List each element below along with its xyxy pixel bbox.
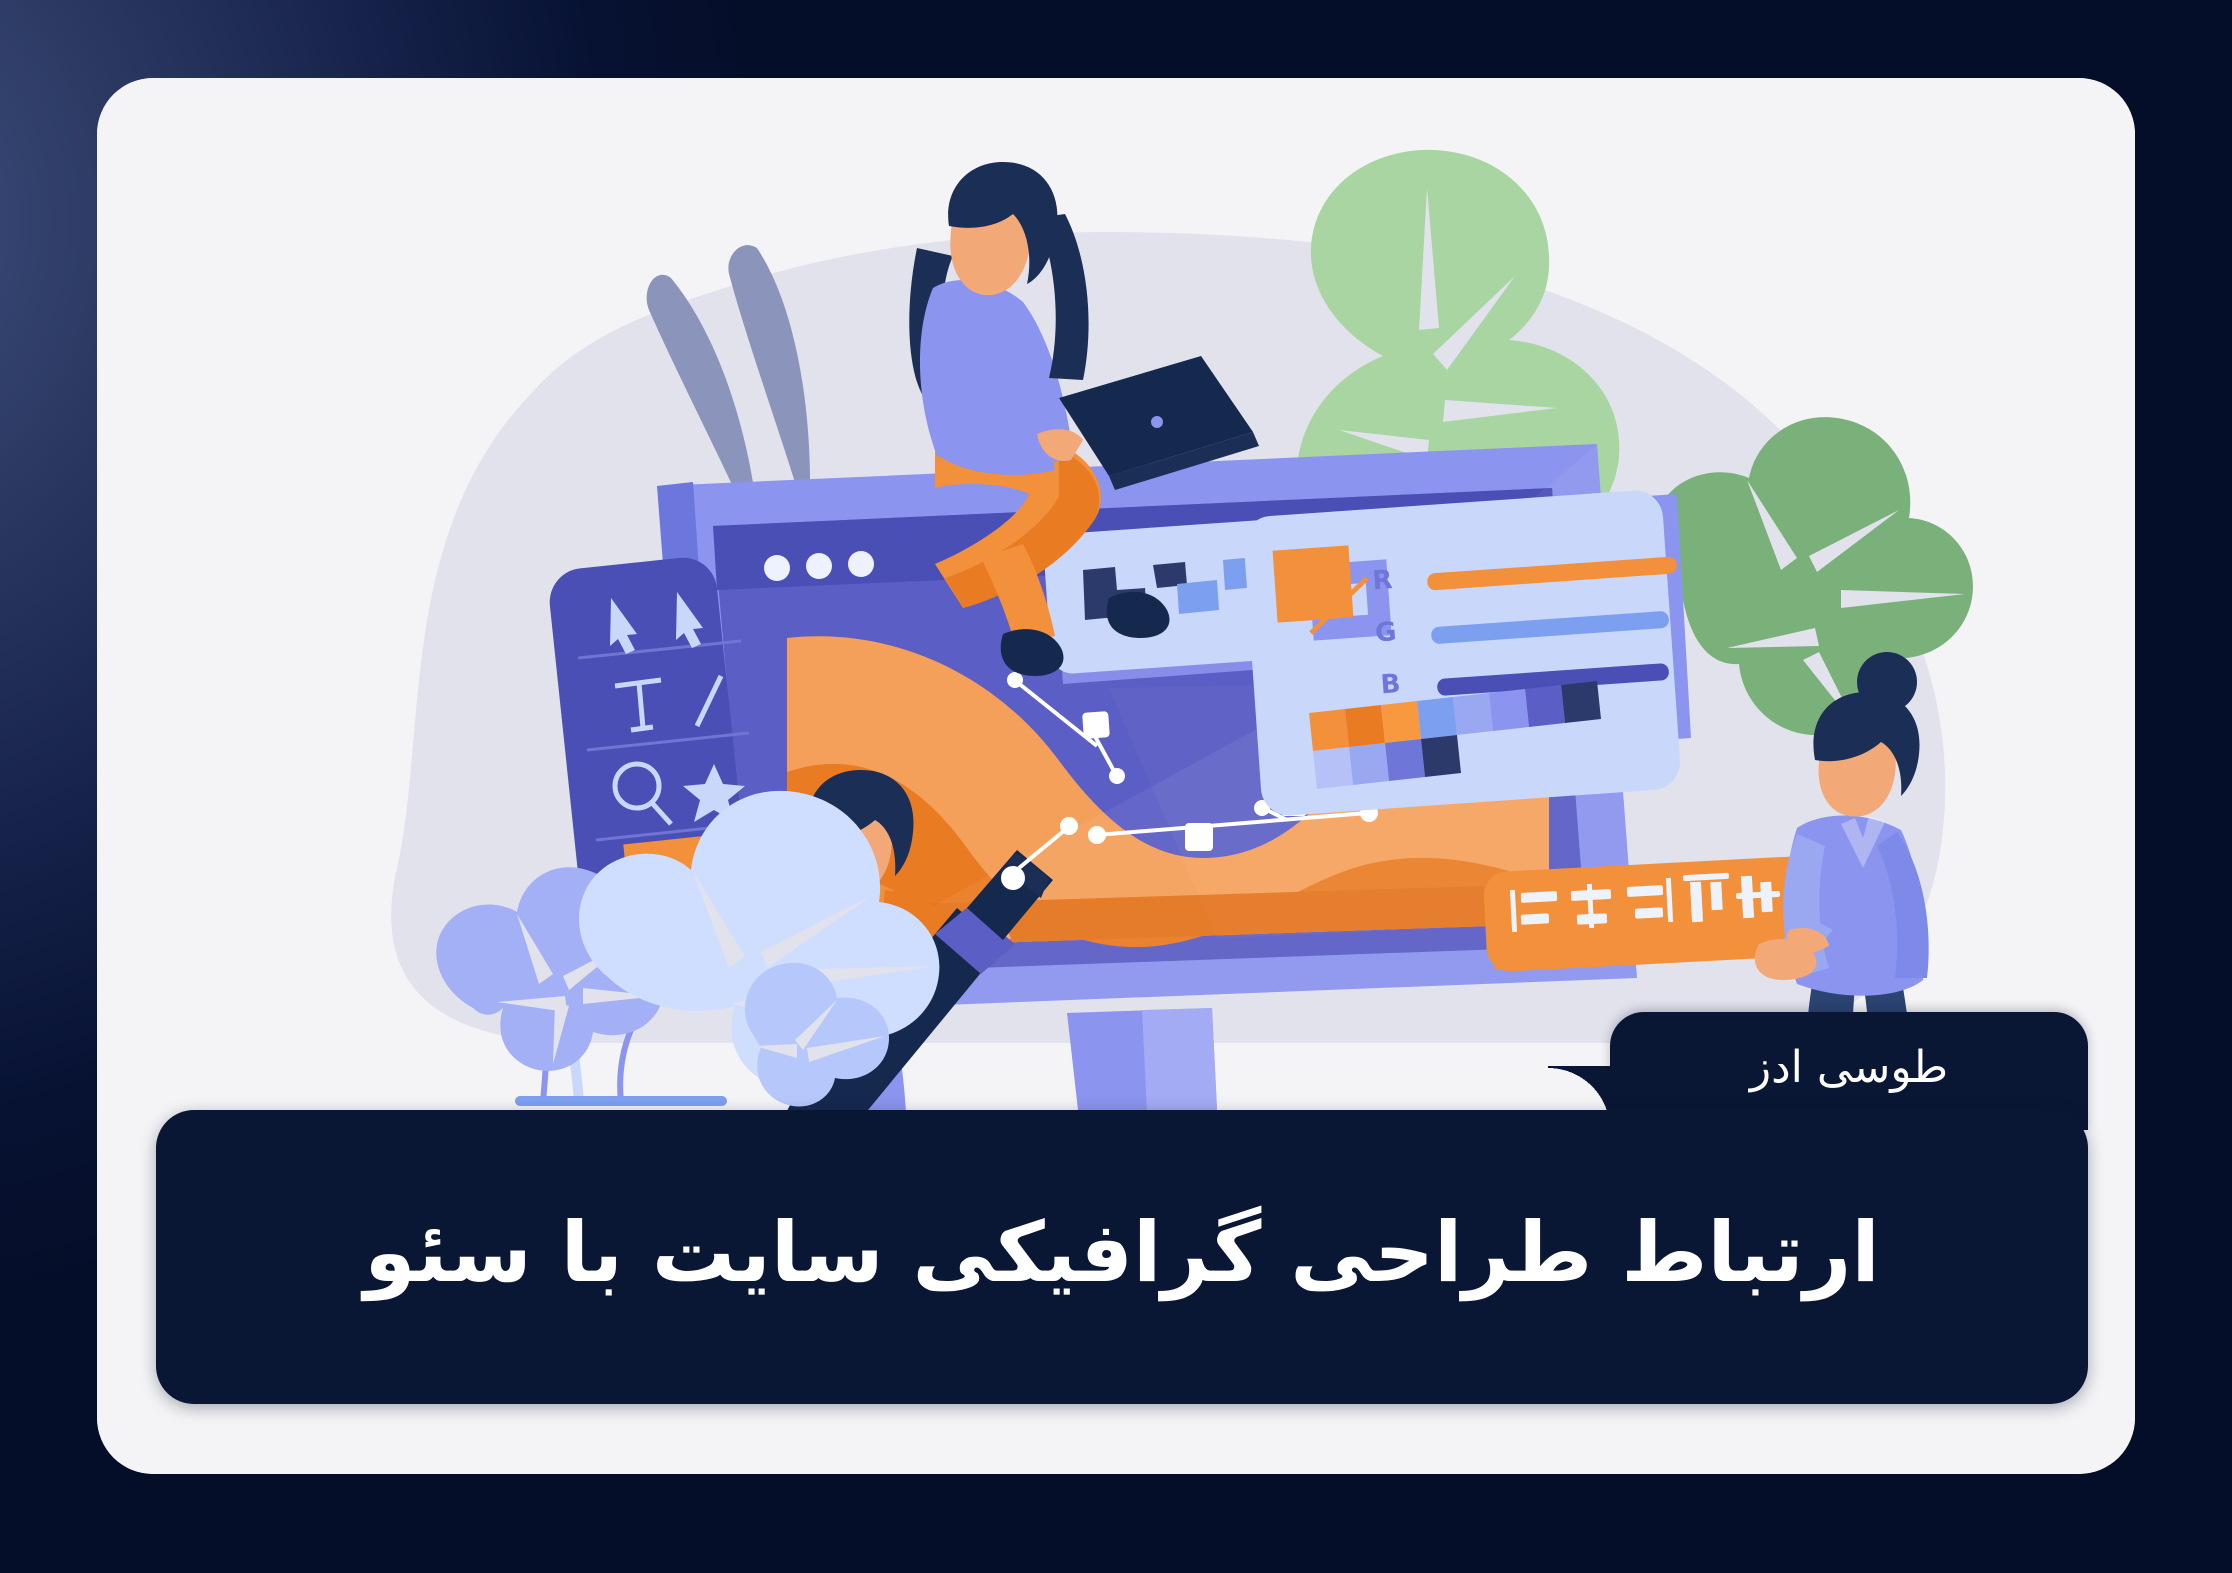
banner-stage: R G B (0, 0, 2232, 1573)
window-dot-2 (806, 553, 832, 579)
hair-bun (1857, 652, 1917, 712)
rgb-color-panel: R G B (1242, 489, 1691, 818)
window-dot-3 (848, 551, 874, 577)
window-dot-1 (764, 555, 790, 581)
svg-text:R: R (1371, 565, 1393, 596)
svg-text:G: G (1374, 617, 1397, 648)
page-title: ارتباط طراحی گرافیکی سایت با سئو (156, 1110, 2088, 1404)
title-panel: ارتباط طراحی گرافیکی سایت با سئو (156, 1110, 2088, 1404)
svg-text:B: B (1380, 669, 1402, 700)
